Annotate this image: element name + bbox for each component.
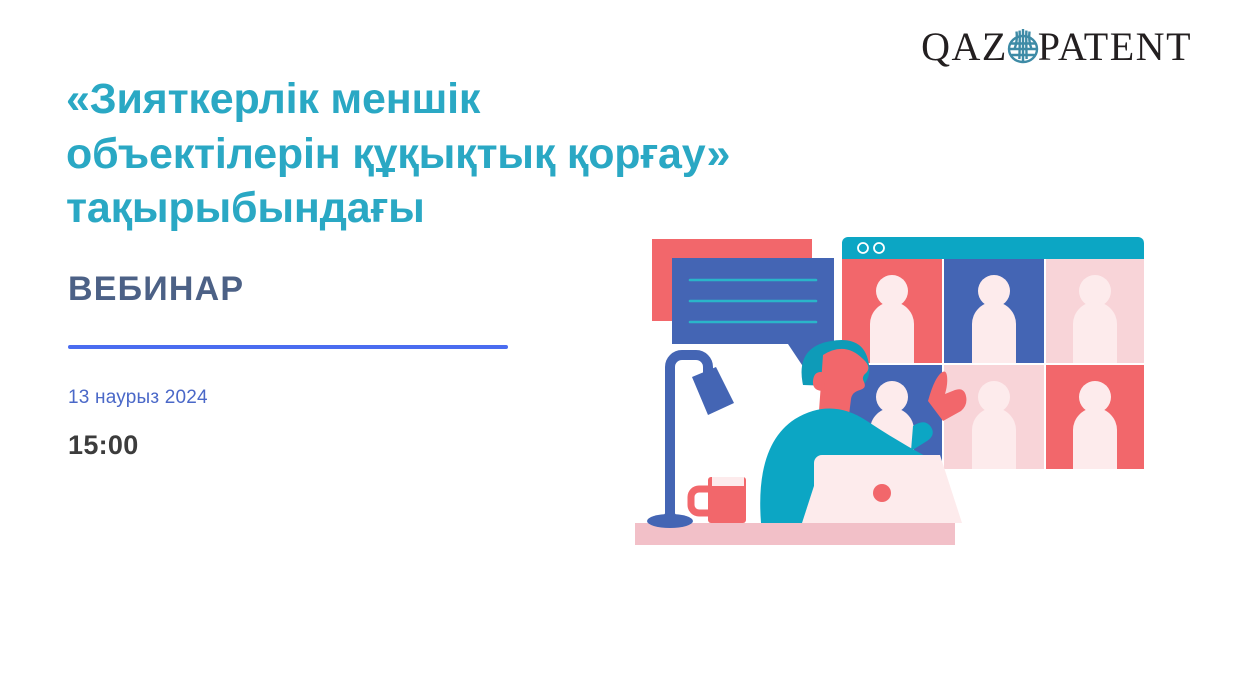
coffee-mug-icon <box>691 477 746 523</box>
laptop-icon <box>802 455 962 523</box>
event-type-label: ВЕБИНАР <box>68 270 244 309</box>
page-title: «Зияткерлік меншік объектілерін құқықтық… <box>66 72 966 236</box>
event-date: 13 наурыз 2024 <box>68 387 208 409</box>
event-time: 15:00 <box>68 430 139 461</box>
webinar-announcement-slide: QAZ PATENT «Зияткерлік меншік объектілер… <box>0 0 1260 700</box>
laptop-logo-dot <box>873 484 891 502</box>
participant-tile <box>1046 365 1144 469</box>
qazpatent-logo: QAZ PATENT <box>921 24 1192 70</box>
window-titlebar <box>842 237 1144 259</box>
participant-tile <box>1046 259 1144 363</box>
logo-text-patent: PATENT <box>1038 27 1192 67</box>
participant-tile <box>944 365 1044 469</box>
divider-rule <box>68 345 508 349</box>
webinar-illustration <box>630 225 1190 570</box>
participant-tile <box>944 259 1044 363</box>
logo-text-qaz: QAZ <box>921 27 1008 67</box>
ear <box>813 372 826 391</box>
